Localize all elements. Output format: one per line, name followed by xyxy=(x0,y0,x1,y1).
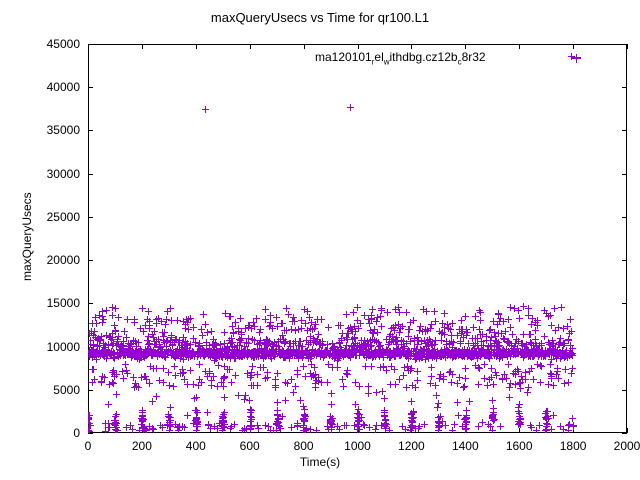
x-tick-label: 1400 xyxy=(435,439,495,453)
y-tick-right xyxy=(622,390,627,391)
x-tick xyxy=(196,428,197,433)
x-tick-label: 1600 xyxy=(489,439,549,453)
legend-text: 8r32 xyxy=(462,50,486,64)
y-tick-right xyxy=(622,260,627,261)
y-tick-label: 0 xyxy=(20,426,80,440)
y-axis-title: maxQueryUsecs xyxy=(20,192,34,281)
x-axis-title: Time(s) xyxy=(0,455,640,469)
legend-label: ma120101relwithdbg.cz12bc8r32 xyxy=(315,50,486,66)
y-tick xyxy=(88,217,93,218)
y-tick-label: 40000 xyxy=(20,80,80,94)
chart-title: maxQueryUsecs vs Time for qr100.L1 xyxy=(0,10,640,25)
y-tick-right xyxy=(622,130,627,131)
y-tick-right xyxy=(622,217,627,218)
x-tick-label: 600 xyxy=(220,439,280,453)
y-tick-label: 10000 xyxy=(20,340,80,354)
y-tick xyxy=(88,260,93,261)
chart-canvas: maxQueryUsecs vs Time for qr100.L1 05000… xyxy=(0,0,640,480)
x-tick-label: 1000 xyxy=(328,439,388,453)
y-tick xyxy=(88,87,93,88)
x-tick-top xyxy=(142,44,143,49)
x-tick-top xyxy=(627,44,628,49)
x-tick xyxy=(142,428,143,433)
legend-text: ma120101 xyxy=(315,50,372,64)
x-tick xyxy=(304,428,305,433)
y-tick-right xyxy=(622,303,627,304)
x-tick xyxy=(250,428,251,433)
y-tick-label: 30000 xyxy=(20,167,80,181)
x-tick-label: 800 xyxy=(274,439,334,453)
x-tick xyxy=(627,428,628,433)
y-tick-label: 15000 xyxy=(20,296,80,310)
x-tick-top xyxy=(250,44,251,49)
x-tick-top xyxy=(465,44,466,49)
x-tick xyxy=(519,428,520,433)
x-tick-top xyxy=(196,44,197,49)
x-tick-top xyxy=(519,44,520,49)
x-tick xyxy=(88,428,89,433)
x-tick xyxy=(358,428,359,433)
y-tick xyxy=(88,174,93,175)
y-tick xyxy=(88,347,93,348)
x-tick-label: 200 xyxy=(112,439,172,453)
x-tick-label: 0 xyxy=(58,439,118,453)
y-tick-label: 35000 xyxy=(20,123,80,137)
x-tick-top xyxy=(573,44,574,49)
y-tick-right xyxy=(622,433,627,434)
y-tick xyxy=(88,390,93,391)
x-tick-label: 2000 xyxy=(597,439,640,453)
x-tick-label: 1800 xyxy=(543,439,603,453)
x-tick-top xyxy=(88,44,89,49)
legend-text: el xyxy=(374,50,383,64)
y-tick-label: 5000 xyxy=(20,383,80,397)
x-tick-top xyxy=(358,44,359,49)
plot-frame xyxy=(88,44,627,433)
x-tick-top xyxy=(411,44,412,49)
legend-text: ithdbg.cz12b xyxy=(390,50,458,64)
x-tick-top xyxy=(304,44,305,49)
x-tick-label: 400 xyxy=(166,439,226,453)
x-tick xyxy=(411,428,412,433)
x-tick-label: 1200 xyxy=(381,439,441,453)
y-tick-right xyxy=(622,347,627,348)
x-tick xyxy=(465,428,466,433)
y-tick xyxy=(88,303,93,304)
y-tick-right xyxy=(622,87,627,88)
y-tick-label: 45000 xyxy=(20,37,80,51)
x-tick xyxy=(573,428,574,433)
y-tick-right xyxy=(622,174,627,175)
y-tick xyxy=(88,130,93,131)
y-tick xyxy=(88,433,93,434)
